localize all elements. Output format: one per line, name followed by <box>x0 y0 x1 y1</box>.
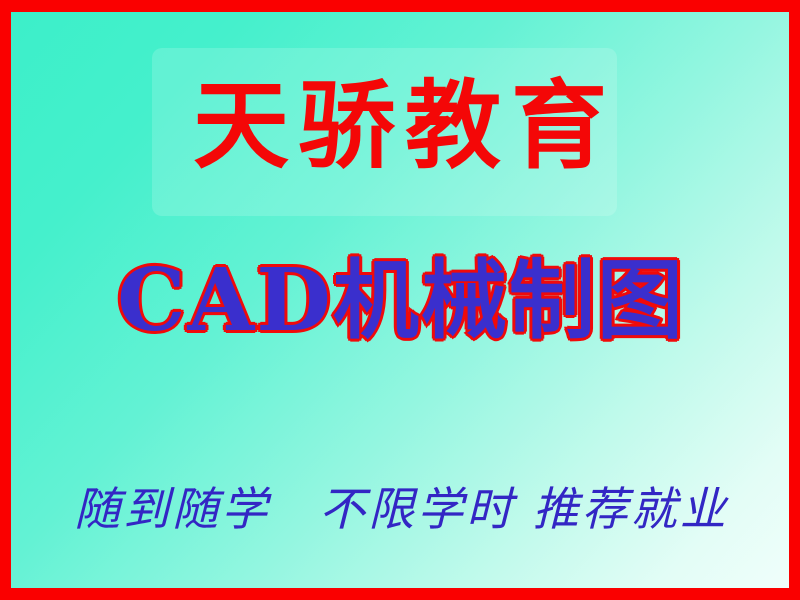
poster-tagline: 随到随学 不限学时 推荐就业 <box>11 486 789 532</box>
poster-headline: 天骄教育 <box>11 78 789 174</box>
poster-frame: 天骄教育 CAD机械制图 随到随学 不限学时 推荐就业 <box>0 0 800 600</box>
poster-subhead: CAD机械制图 <box>11 258 789 344</box>
poster-panel: 天骄教育 CAD机械制图 随到随学 不限学时 推荐就业 <box>11 12 789 588</box>
